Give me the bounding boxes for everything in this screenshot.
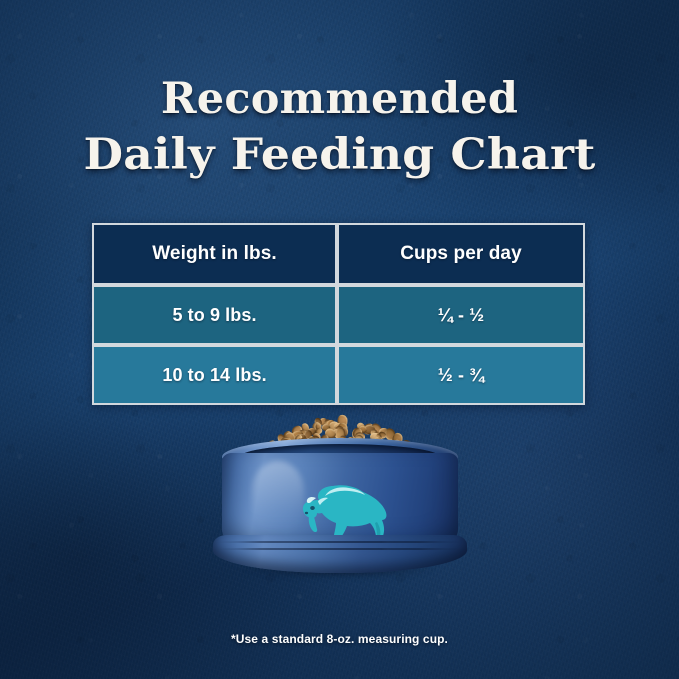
cell-cups-per-day: ¼ - ½ xyxy=(337,285,585,345)
footnote-text: *Use a standard 8-oz. measuring cup. xyxy=(0,632,679,646)
cell-weight-range: 10 to 14 lbs. xyxy=(92,345,337,405)
cell-weight-range: 5 to 9 lbs. xyxy=(92,285,337,345)
page-title: Recommended Daily Feeding Chart xyxy=(0,74,679,180)
table-header-row: Weight in lbs. Cups per day xyxy=(92,223,585,285)
cell-cups-per-day: ½ - ¾ xyxy=(337,345,585,405)
bowl-foot-groove xyxy=(216,548,464,550)
page-title-line-1: Recommended xyxy=(0,74,679,124)
page-title-line-2: Daily Feeding Chart xyxy=(0,130,679,180)
table-row: 5 to 9 lbs. ¼ - ½ xyxy=(92,285,585,345)
table-row: 10 to 14 lbs. ½ - ¾ xyxy=(92,345,585,405)
column-header-weight: Weight in lbs. xyxy=(92,223,337,285)
column-header-cups: Cups per day xyxy=(337,223,585,285)
bowl-foot-groove xyxy=(216,541,464,543)
feeding-chart-table: Weight in lbs. Cups per day 5 to 9 lbs. … xyxy=(92,223,585,405)
dog-bowl-illustration xyxy=(0,398,679,598)
